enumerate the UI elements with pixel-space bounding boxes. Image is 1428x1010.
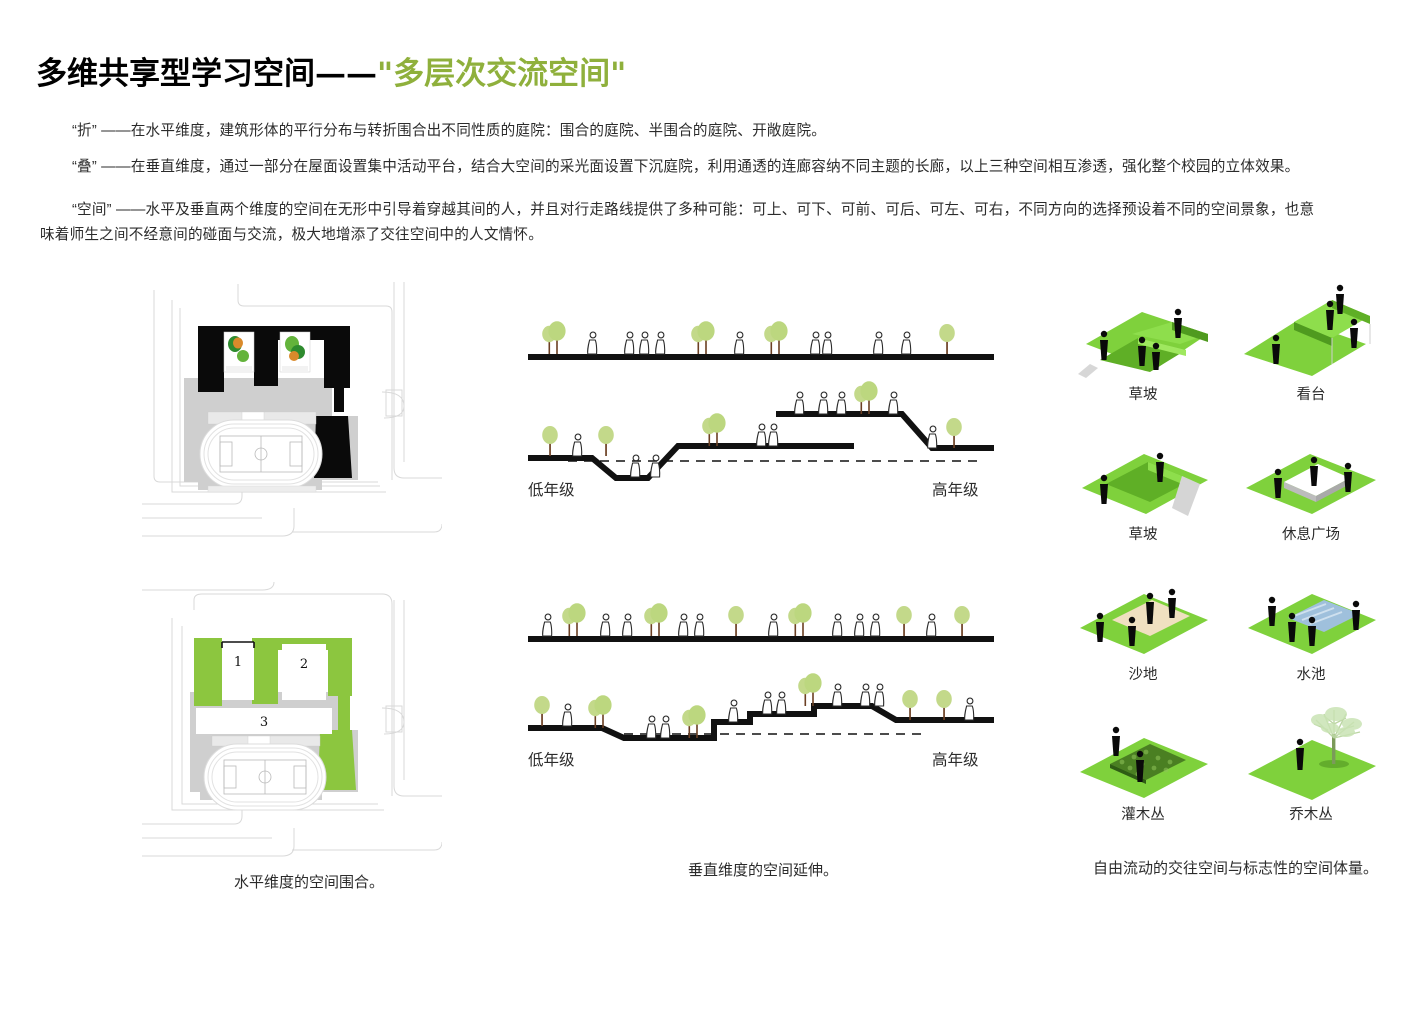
- building-bar-b: [254, 326, 278, 386]
- title-quote-close: ": [610, 56, 626, 92]
- section-profile-flat-upper: [528, 321, 994, 360]
- section-profile-undulating: [528, 381, 994, 478]
- svg-text:3: 3: [260, 715, 268, 730]
- page-title-green: 多层次交流空间: [393, 56, 610, 92]
- courtyard-3: 3: [196, 708, 332, 734]
- paragraph-space-line2: 味着师生之间不经意间的碰面与交流，极大地增添了交往空间中的人文情怀。: [40, 223, 1417, 248]
- title-quote-open: ": [377, 56, 393, 92]
- grade-label-lower-a: 低年级: [528, 478, 575, 500]
- tree-cluster-icon: [1236, 702, 1386, 807]
- sports-field: [204, 736, 326, 810]
- landscape-typology-grid: 草坡 看台: [1062, 282, 1392, 842]
- page-title: 多维共享型学习空间——"多层次交流空间": [36, 48, 626, 93]
- site-plan-massing: [142, 282, 442, 572]
- caption-middle: 垂直维度的空间延伸。: [688, 859, 838, 880]
- page-title-black: 多维共享型学习空间——: [36, 56, 377, 92]
- green-mass-b: [252, 638, 278, 704]
- section-profile-flat-lower: [528, 603, 994, 642]
- grade-label-lower-b: 低年级: [528, 748, 575, 770]
- site-plan-courtyards: 1 2 3: [142, 580, 442, 870]
- courtyard-thumb-2: [280, 332, 310, 372]
- grandstand-icon: [1236, 282, 1386, 387]
- tile-tree-cluster[interactable]: 乔木丛: [1230, 702, 1392, 842]
- caption-left: 水平维度的空间围合。: [234, 871, 384, 892]
- green-connector: [338, 690, 350, 732]
- paragraph-space: “空间” ——水平及垂直两个维度的空间在无形中引导着穿越其间的人，并且对行走路线…: [72, 198, 1417, 248]
- green-mass-a: [194, 638, 222, 706]
- building-connector: [334, 370, 344, 412]
- tile-rest-plaza[interactable]: 休息广场: [1230, 422, 1392, 562]
- rest-plaza-icon: [1236, 422, 1386, 527]
- tile-grandstand[interactable]: 看台: [1230, 282, 1392, 422]
- person-silhouette: [1296, 739, 1304, 770]
- shrub-cluster-icon: [1068, 702, 1218, 807]
- section-profile-terraced: [528, 673, 994, 738]
- svg-text:2: 2: [300, 657, 308, 672]
- svg-text:1: 1: [234, 655, 242, 670]
- paragraph-space-line1: “空间” ——水平及垂直两个维度的空间在无形中引导着穿越其间的人，并且对行走路线…: [72, 202, 1314, 218]
- grass-slope-icon: [1068, 282, 1218, 387]
- caption-right: 自由流动的交往空间与标志性的空间体量。: [1093, 857, 1378, 878]
- tile-water-pool[interactable]: 水池: [1230, 562, 1392, 702]
- sports-field: [200, 412, 322, 492]
- grade-label-upper-a: 高年级: [932, 478, 979, 500]
- tile-grass-slope-ramp[interactable]: 草坡: [1062, 422, 1224, 562]
- paragraph-fold: “折” ——在水平维度，建筑形体的平行分布与转折围合出不同性质的庭院：围合的庭院…: [72, 119, 1402, 144]
- tile-shrub-cluster[interactable]: 灌木丛: [1062, 702, 1224, 842]
- courtyard-2: 2: [282, 644, 326, 700]
- grass-slope-ramp-icon: [1068, 422, 1218, 527]
- green-mass-c: [328, 638, 352, 696]
- section-diagram-vertical-b: 低年级 高年级: [528, 588, 1008, 788]
- grade-label-upper-b: 高年级: [932, 748, 979, 770]
- sand-pit-icon: [1068, 562, 1218, 667]
- section-diagram-vertical-a: 低年级 高年级: [528, 296, 1008, 506]
- paragraph-stack: “叠” ——在垂直维度，通过一部分在屋面设置集中活动平台，结合大空间的采光面设置…: [72, 155, 1402, 180]
- tile-sand-pit[interactable]: 沙地: [1062, 562, 1224, 702]
- courtyard-thumb-1: [224, 332, 254, 372]
- water-pool-icon: [1236, 562, 1386, 667]
- courtyard-1: 1: [222, 642, 254, 700]
- tile-grass-slope[interactable]: 草坡: [1062, 282, 1224, 422]
